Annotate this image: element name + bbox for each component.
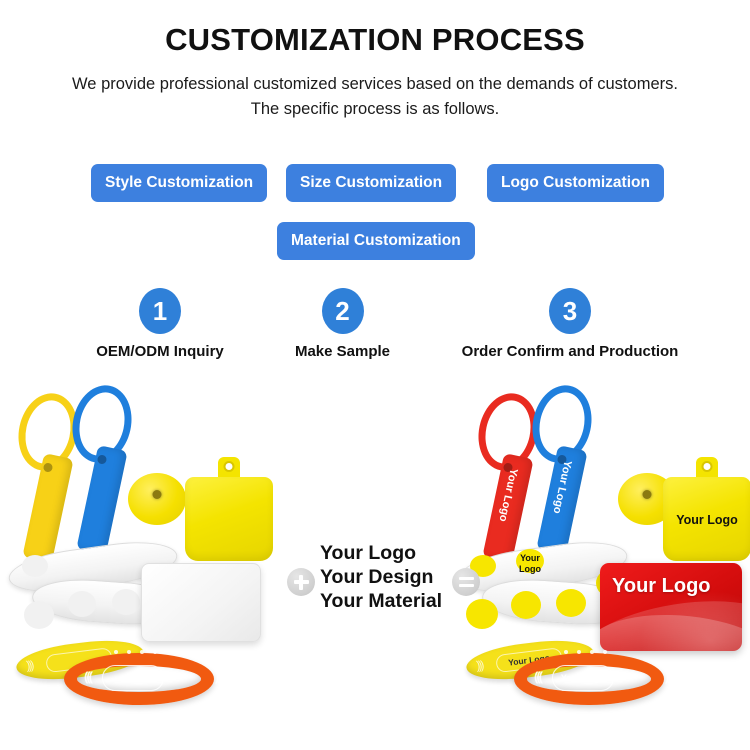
custom-red-card: Your Logo xyxy=(600,563,742,651)
rfid-wave-left-icon: ((( xyxy=(84,669,91,684)
ear-tag-stud-icon xyxy=(643,490,652,499)
wristband-dot xyxy=(22,555,48,577)
option-logo-customization[interactable]: Logo Customization xyxy=(487,164,664,202)
wristband-dot xyxy=(466,599,498,629)
ear-tag-stud-icon xyxy=(153,490,162,499)
wristband-plate: Your Logo xyxy=(552,665,614,691)
step-3-label: Order Confirm and Production xyxy=(420,343,720,360)
wristband-dot xyxy=(556,589,586,617)
ear-tag-panel xyxy=(185,477,273,561)
center-line-1: Your Logo xyxy=(320,541,448,565)
card-logo-text: Your Logo xyxy=(612,575,711,598)
blank-white-card xyxy=(141,563,261,642)
customized-products-panel: Your Logo Your Logo Your Logo xyxy=(450,385,750,750)
step-1-number: 1 xyxy=(139,288,181,334)
wristband-dot xyxy=(112,589,140,615)
equals-bar-bottom xyxy=(459,584,474,587)
ear-tag-hole-icon xyxy=(702,461,713,472)
plus-bar-vertical xyxy=(299,575,303,590)
rfid-wave-icon: ))) xyxy=(475,658,483,673)
subtitle-line-1: We provide professional customized servi… xyxy=(0,72,750,97)
step-3-number: 3 xyxy=(549,288,591,334)
wristband-dot xyxy=(24,601,54,629)
rfid-wave-left-icon: ((( xyxy=(534,669,541,684)
custom-orange-silicone-wristband: ((( Your Logo ))) xyxy=(514,653,690,731)
ear-tag-disc xyxy=(128,473,186,525)
wristband-logo-text: Your Logo xyxy=(514,553,546,575)
wristband-studs-icon xyxy=(564,650,607,654)
blank-orange-silicone-wristband: ((( ))) xyxy=(64,653,240,731)
rfid-wave-icon: ))) xyxy=(25,658,33,673)
process-step-2: 2 Make Sample xyxy=(240,288,445,360)
option-size-customization[interactable]: Size Customization xyxy=(286,164,456,202)
process-step-3: 3 Order Confirm and Production xyxy=(420,288,720,360)
center-line-2: Your Design xyxy=(320,565,448,589)
wristband-studs-icon xyxy=(114,650,157,654)
customization-inputs-text: Your Logo Your Design Your Material xyxy=(320,541,448,613)
step-2-label: Make Sample xyxy=(240,343,445,360)
blank-ear-tag-button xyxy=(128,473,186,525)
blank-yellow-ear-tag xyxy=(185,457,273,563)
ear-tag-hole-icon xyxy=(224,461,235,472)
wristband-plate xyxy=(102,665,164,691)
rfid-wave-right-icon: ))) xyxy=(665,669,672,684)
custom-yellow-ear-tag: Your Logo xyxy=(663,457,750,563)
option-material-customization[interactable]: Material Customization xyxy=(277,222,475,260)
wristband-dot xyxy=(511,591,541,619)
option-style-customization[interactable]: Style Customization xyxy=(91,164,267,202)
plus-icon xyxy=(287,568,315,596)
ear-tag-logo-text: Your Logo xyxy=(663,513,750,527)
page-title: CUSTOMIZATION PROCESS xyxy=(0,22,750,58)
rfid-wave-right-icon: ))) xyxy=(215,669,222,684)
equals-icon xyxy=(452,568,480,596)
customization-process-page: CUSTOMIZATION PROCESS We provide profess… xyxy=(0,0,750,750)
blank-products-panel: ))) ((( ))) xyxy=(0,385,300,750)
subtitle-line-2: The specific process is as follows. xyxy=(0,97,750,122)
center-line-3: Your Material xyxy=(320,589,448,613)
wristband-dot xyxy=(68,591,96,617)
equals-bar-top xyxy=(459,577,474,580)
step-2-number: 2 xyxy=(322,288,364,334)
page-subtitle: We provide professional customized servi… xyxy=(0,72,750,122)
